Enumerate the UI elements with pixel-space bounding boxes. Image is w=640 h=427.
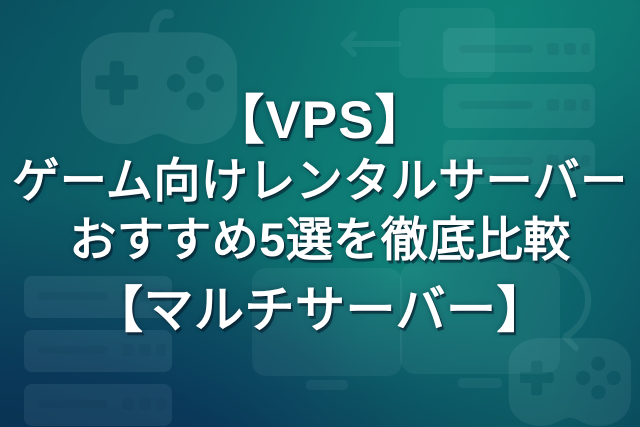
banner-root: 【VPS】 ゲーム向けレンタルサーバー おすすめ5選を徹底比較 【マルチサーバー… [0, 0, 640, 427]
headline-line-4: 【マルチサーバー】 [93, 280, 547, 341]
headline-line-1: 【VPS】 [211, 90, 428, 151]
headline-line-2: ゲーム向けレンタルサーバー [12, 153, 627, 209]
headline-block: 【VPS】 ゲーム向けレンタルサーバー おすすめ5選を徹底比較 【マルチサーバー… [0, 0, 640, 427]
headline-line-3: おすすめ5選を徹底比較 [69, 212, 570, 268]
